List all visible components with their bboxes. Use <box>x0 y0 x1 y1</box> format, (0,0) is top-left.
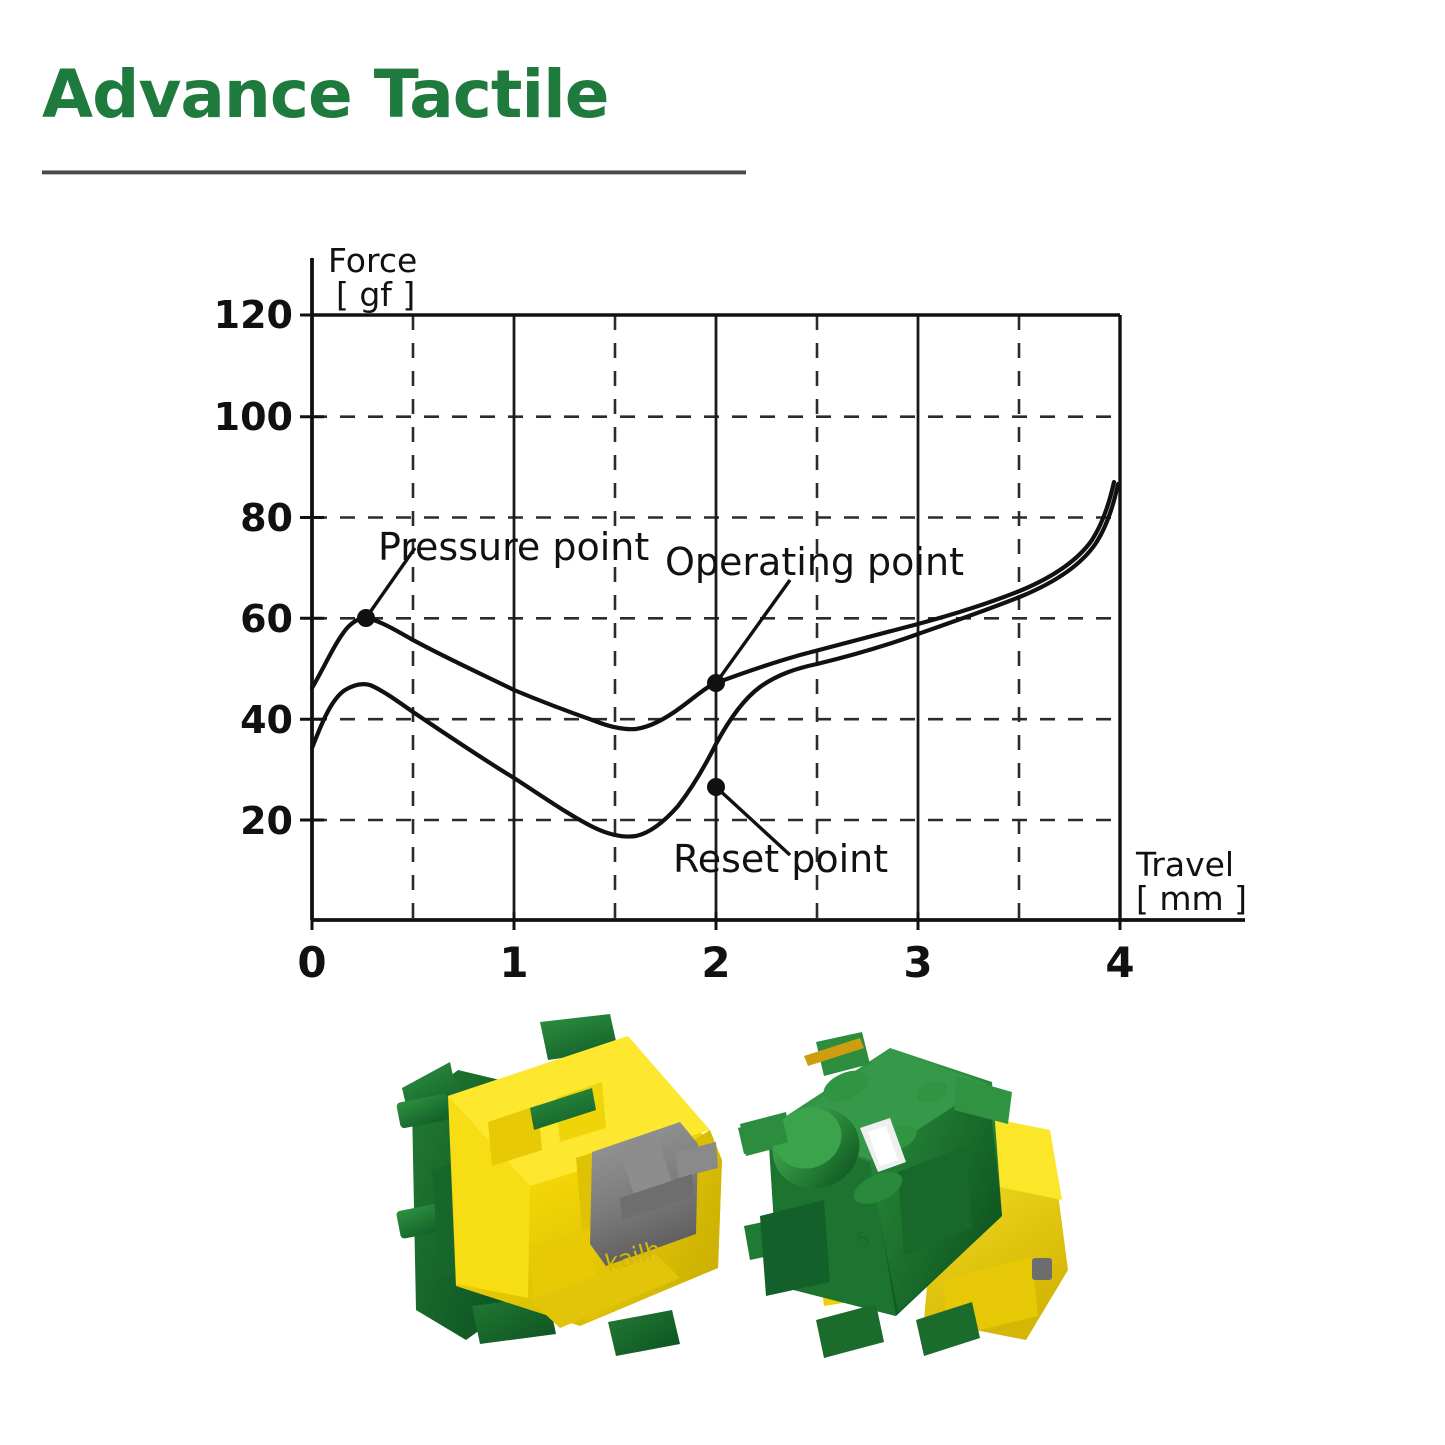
x-tick-2: 2 <box>701 938 730 987</box>
y-tick-labels: 120 100 80 60 40 20 <box>214 293 293 843</box>
y-tick-120: 120 <box>214 293 293 337</box>
force-travel-chart: 120 100 80 60 40 20 0 1 2 3 4 Force [ gf… <box>0 200 1445 1000</box>
operating-point-label: Operating point <box>665 540 964 584</box>
y-tick-80: 80 <box>240 496 293 540</box>
page-title: Advance Tactile <box>42 62 608 128</box>
x-tick-4: 4 <box>1105 938 1134 987</box>
kailh-switch-top-view: kailh <box>380 1010 750 1370</box>
reset-point-label: Reset point <box>673 837 888 881</box>
pressure-point-marker <box>357 609 375 627</box>
operating-point-marker <box>707 674 725 692</box>
y-axis-unit: [ gf ] <box>336 275 415 314</box>
x-tick-0: 0 <box>297 938 326 987</box>
reset-point-marker <box>707 778 725 796</box>
y-tick-40: 40 <box>240 698 293 742</box>
y-tick-60: 60 <box>240 597 293 641</box>
x-axis-unit: [ mm ] <box>1136 879 1247 918</box>
page-header: Advance Tactile <box>0 0 1445 200</box>
y-tick-100: 100 <box>214 395 293 439</box>
pressure-point-label: Pressure point <box>378 525 649 569</box>
x-tick-1: 1 <box>499 938 528 987</box>
force-travel-chart-svg: 120 100 80 60 40 20 0 1 2 3 4 Force [ gf… <box>0 200 1445 1000</box>
kailh-switch-bottom-view: 5 <box>720 1020 1090 1380</box>
y-tick-20: 20 <box>240 799 293 843</box>
x-tick-labels: 0 1 2 3 4 <box>297 938 1134 987</box>
title-divider <box>42 170 746 175</box>
x-tick-3: 3 <box>903 938 932 987</box>
switch-gallery: kailh <box>0 1000 1445 1445</box>
